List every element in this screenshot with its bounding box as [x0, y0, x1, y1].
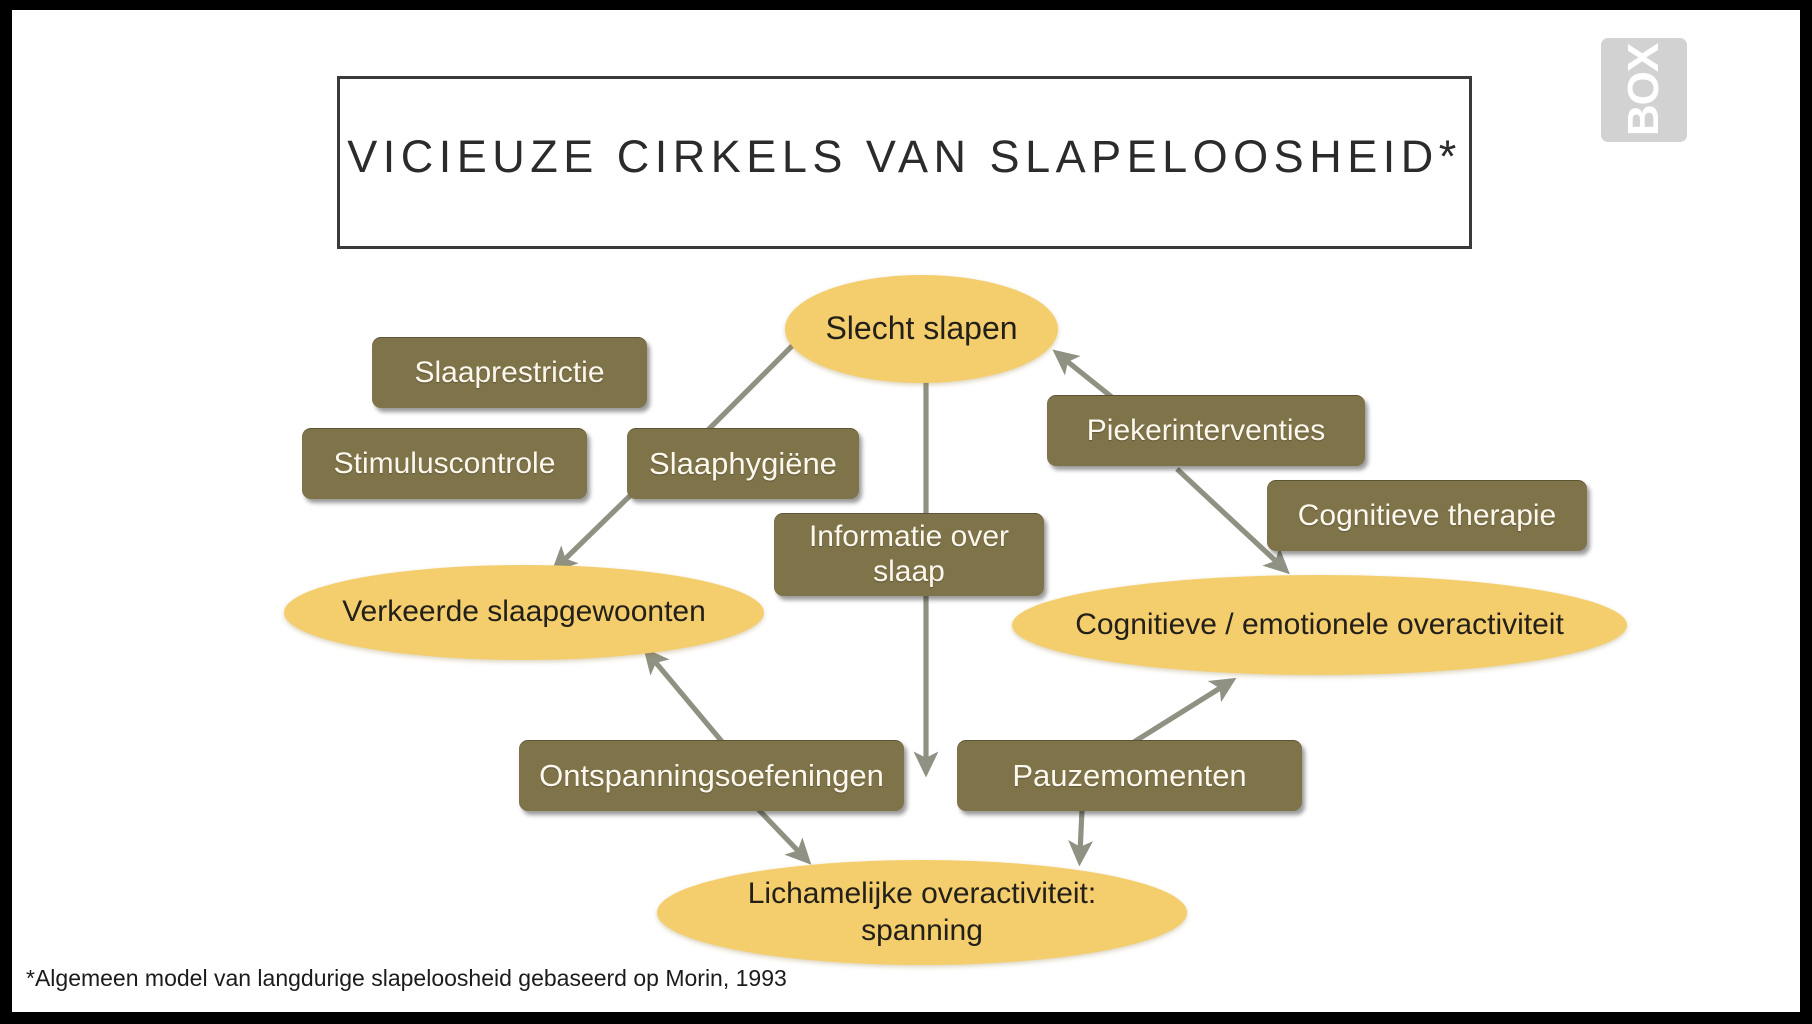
- arrow-ontspanningsoefeningen-to-lichamelijke-overactiviteit: [757, 808, 802, 855]
- intervention-slaaphygiene[interactable]: Slaaphygiëne: [627, 428, 859, 499]
- node-label: Lichamelijke overactiviteit: spanning: [657, 876, 1187, 949]
- intervention-piekerinterventies[interactable]: Piekerinterventies: [1047, 395, 1365, 466]
- intervention-pauzemomenten[interactable]: Pauzemomenten: [957, 740, 1302, 811]
- node-label: Verkeerde slaapgewoonten: [316, 594, 732, 631]
- intervention-informatie-over-slaap[interactable]: Informatie over slaap: [774, 513, 1044, 596]
- node-lichamelijke-overactiviteit[interactable]: Lichamelijke overactiviteit: spanning: [657, 860, 1187, 965]
- node-label: Cognitieve / emotionele overactiviteit: [1049, 607, 1590, 644]
- arrow-piekerinterventies-to-cognitieve-overactiviteit: [1177, 469, 1280, 565]
- intervention-label: Slaaprestrictie: [400, 356, 618, 391]
- arrow-ontspanningsoefeningen-to-verkeerde-slaapgewoonten: [652, 658, 729, 750]
- slide-canvas: VICIEUZE CIRKELS VAN SLAPELOOSHEID* BOX: [12, 10, 1800, 1012]
- intervention-label: Pauzemomenten: [998, 758, 1260, 794]
- arrow-slaaphygiene-to-slecht-slapen: [703, 331, 807, 435]
- intervention-label: Ontspanningsoefeningen: [525, 758, 898, 794]
- slide-frame: VICIEUZE CIRKELS VAN SLAPELOOSHEID* BOX: [0, 0, 1812, 1024]
- node-cognitieve-emotionele-overactiviteit[interactable]: Cognitieve / emotionele overactiviteit: [1012, 575, 1627, 675]
- intervention-slaaprestrictie[interactable]: Slaaprestrictie: [372, 337, 647, 408]
- node-slecht-slapen[interactable]: Slecht slapen: [785, 275, 1058, 383]
- intervention-label: Piekerinterventies: [1073, 414, 1339, 449]
- node-verkeerde-slaapgewoonten[interactable]: Verkeerde slaapgewoonten: [284, 565, 764, 660]
- intervention-label: Slaaphygiëne: [635, 446, 851, 482]
- intervention-label: Stimuluscontrole: [320, 447, 570, 482]
- footnote: *Algemeen model van langdurige slapeloos…: [26, 965, 787, 992]
- intervention-stimuluscontrole[interactable]: Stimuluscontrole: [302, 428, 587, 499]
- arrow-pauzemomenten-to-lichamelijke-overactiviteit: [1080, 810, 1082, 853]
- intervention-cognitieve-therapie[interactable]: Cognitieve therapie: [1267, 480, 1587, 551]
- node-label: Slecht slapen: [799, 309, 1043, 348]
- intervention-label: Cognitieve therapie: [1284, 499, 1571, 534]
- intervention-label: Informatie over slaap: [774, 520, 1044, 590]
- intervention-ontspanningsoefeningen[interactable]: Ontspanningsoefeningen: [519, 740, 904, 811]
